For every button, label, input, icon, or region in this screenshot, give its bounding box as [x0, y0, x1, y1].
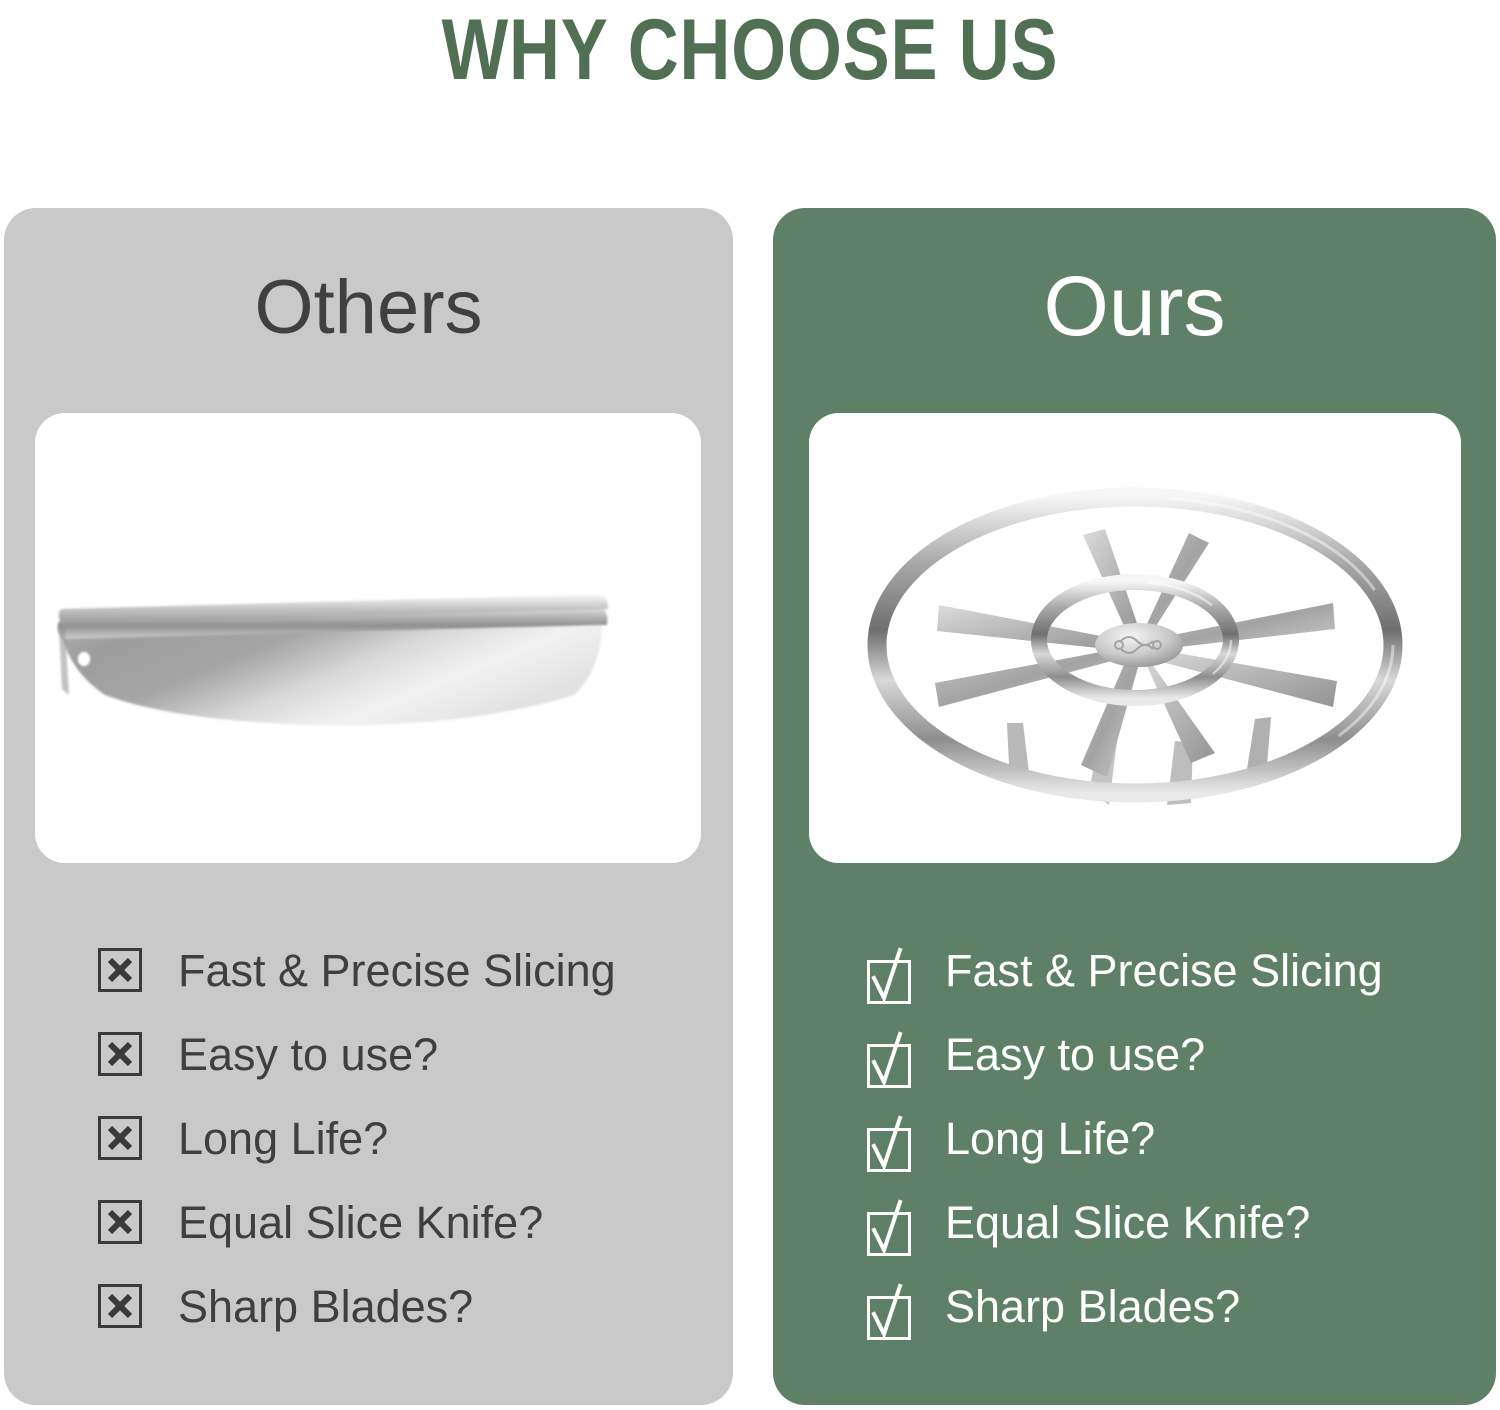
- rocker-pizza-knife-blade-image: [35, 413, 701, 863]
- feature-row: Long Life?: [773, 1096, 1496, 1180]
- feature-label: Equal Slice Knife?: [945, 1200, 1310, 1245]
- feature-row: Fast & Precise Slicing: [773, 928, 1496, 1012]
- feature-list-others: Fast & Precise Slicing Easy to use? Long…: [4, 928, 733, 1348]
- cross-icon: [98, 948, 142, 992]
- feature-label: Sharp Blades?: [178, 1284, 473, 1329]
- feature-row: Equal Slice Knife?: [773, 1180, 1496, 1264]
- feature-row: Easy to use?: [773, 1012, 1496, 1096]
- column-title-others: Others: [4, 270, 733, 346]
- feature-label: Fast & Precise Slicing: [178, 948, 616, 993]
- feature-label: Sharp Blades?: [945, 1284, 1240, 1329]
- cross-icon: [98, 1200, 142, 1244]
- feature-row: Sharp Blades?: [4, 1264, 733, 1348]
- feature-label: Long Life?: [178, 1116, 388, 1161]
- feature-label: Fast & Precise Slicing: [945, 948, 1383, 993]
- feature-label: Easy to use?: [945, 1032, 1205, 1077]
- product-card-ours: [809, 413, 1461, 863]
- column-title-ours: Ours: [773, 264, 1496, 348]
- cross-icon: [98, 1284, 142, 1328]
- cross-icon: [98, 1116, 142, 1160]
- check-icon: [867, 948, 911, 992]
- feature-label: Long Life?: [945, 1116, 1155, 1161]
- feature-row: Easy to use?: [4, 1012, 733, 1096]
- comparison-column-others: Others: [4, 208, 733, 1405]
- cross-icon: [98, 1032, 142, 1076]
- comparison-column-ours: Ours: [773, 208, 1496, 1405]
- feature-row: Sharp Blades?: [773, 1264, 1496, 1348]
- feature-list-ours: Fast & Precise Slicing Easy to use? Long…: [773, 928, 1496, 1348]
- check-icon: [867, 1284, 911, 1328]
- check-icon: [867, 1116, 911, 1160]
- feature-label: Equal Slice Knife?: [178, 1200, 543, 1245]
- feature-row: Long Life?: [4, 1096, 733, 1180]
- product-card-others: [35, 413, 701, 863]
- check-icon: [867, 1032, 911, 1076]
- check-icon: [867, 1200, 911, 1244]
- eight-blade-stainless-pizza-slicer-image: [809, 413, 1461, 863]
- feature-row: Fast & Precise Slicing: [4, 928, 733, 1012]
- feature-label: Easy to use?: [178, 1032, 438, 1077]
- feature-row: Equal Slice Knife?: [4, 1180, 733, 1264]
- page-title: WHY CHOOSE US: [135, 0, 1365, 100]
